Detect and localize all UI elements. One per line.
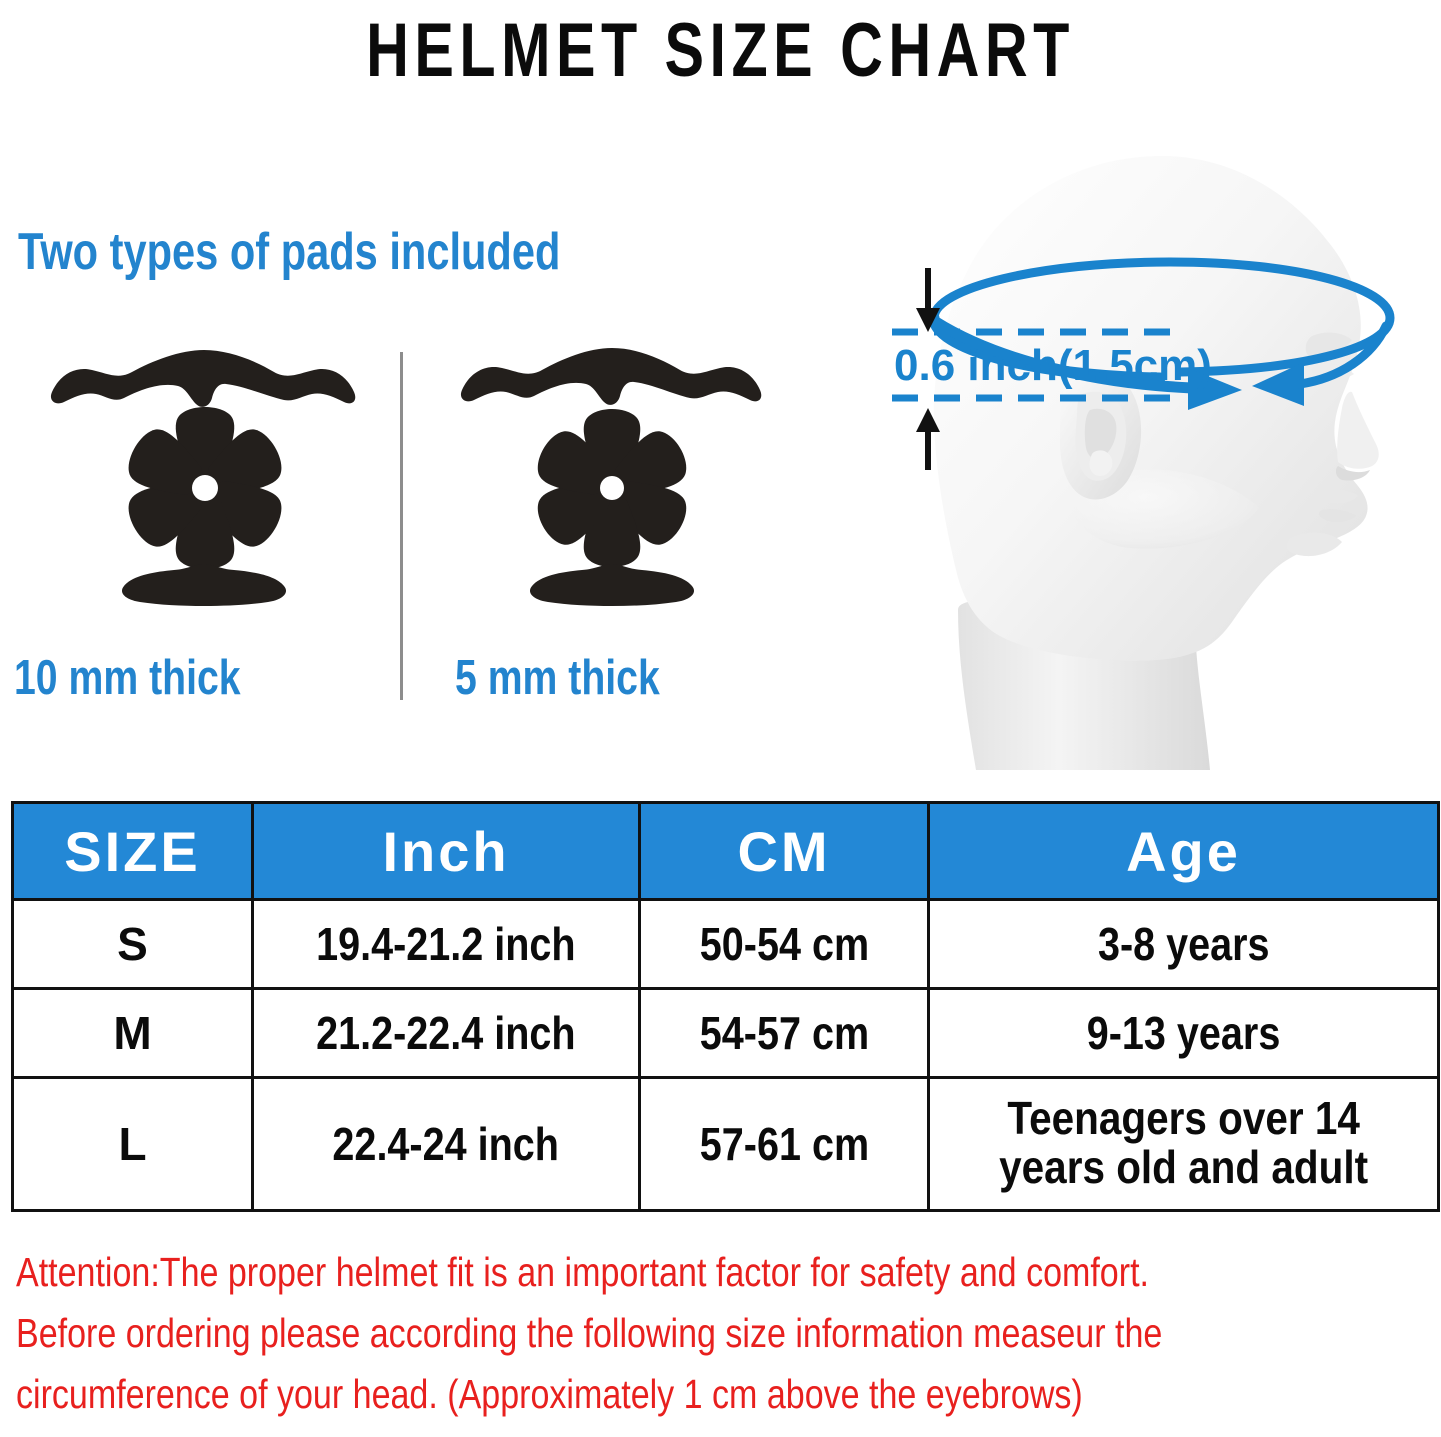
cell-cm-l: 57-61 cm (640, 1078, 929, 1211)
cell-age-l-line1: Teenagers over 14 (1007, 1092, 1360, 1144)
cell-cm-l-text: 57-61 cm (699, 1117, 868, 1171)
nose-shape (1337, 392, 1379, 469)
head-measure-label: 0.6 inch(1.5cm) (894, 341, 1212, 390)
column-header-size: SIZE (13, 803, 253, 900)
table-header-row: SIZE Inch CM Age (13, 803, 1439, 900)
helmet-pad-set-icon (40, 330, 370, 610)
attention-line-3: circumference of your head. (Approximate… (16, 1364, 1186, 1425)
head-shape (934, 156, 1368, 661)
mannequin-head-profile-icon: 0.6 inch(1.5cm) (880, 140, 1441, 770)
page-title: HELMET SIZE CHART (159, 0, 1283, 100)
cell-inch-l: 22.4-24 inch (253, 1078, 640, 1211)
pad-group-10mm (40, 330, 370, 610)
cell-size-m: M (13, 989, 253, 1078)
pads-section-heading: Two types of pads included (18, 222, 560, 282)
cell-age-l-line2: years old and adult (999, 1141, 1368, 1193)
table-body: S 19.4-21.2 inch 50-54 cm 3-8 years M 21… (13, 900, 1439, 1211)
pads-vertical-divider (400, 352, 403, 700)
cell-age-m: 9-13 years (929, 989, 1439, 1078)
cell-inch-s-text: 19.4-21.2 inch (316, 917, 575, 971)
helmet-pad-set-icon (440, 330, 770, 610)
table-row: M 21.2-22.4 inch 54-57 cm 9-13 years (13, 989, 1439, 1078)
cell-inch-l-text: 22.4-24 inch (333, 1117, 559, 1171)
cell-age-l: Teenagers over 14 years old and adult (929, 1078, 1439, 1211)
cell-age-m-text: 9-13 years (1087, 1006, 1281, 1060)
cell-cm-s: 50-54 cm (640, 900, 929, 989)
cell-cm-s-text: 50-54 cm (699, 917, 868, 971)
cell-inch-m-text: 21.2-22.4 inch (316, 1006, 575, 1060)
cell-age-s: 3-8 years (929, 900, 1439, 989)
cell-cm-m: 54-57 cm (640, 989, 929, 1078)
column-header-cm: CM (640, 803, 929, 900)
cell-age-l-text: Teenagers over 14 years old and adult (999, 1094, 1368, 1193)
cell-cm-m-text: 54-57 cm (699, 1006, 868, 1060)
cell-age-s-text: 3-8 years (1098, 917, 1270, 971)
cell-inch-m: 21.2-22.4 inch (253, 989, 640, 1078)
table-row: S 19.4-21.2 inch 50-54 cm 3-8 years (13, 900, 1439, 989)
cell-size-l: L (13, 1078, 253, 1211)
helmet-size-table: SIZE Inch CM Age S 19.4-21.2 inch 50-54 … (11, 801, 1440, 1212)
pad-group-5mm (440, 330, 770, 610)
table-header: SIZE Inch CM Age (13, 803, 1439, 900)
pad-thickness-label-10mm: 10 mm thick (14, 650, 241, 706)
attention-line-1: Attention:The proper helmet fit is an im… (16, 1242, 1186, 1303)
head-measurement-diagram: 0.6 inch(1.5cm) (880, 140, 1441, 770)
attention-note: Attention:The proper helmet fit is an im… (16, 1242, 1426, 1425)
table-row: L 22.4-24 inch 57-61 cm Teenagers over 1… (13, 1078, 1439, 1211)
pad-thickness-label-5mm: 5 mm thick (455, 650, 660, 706)
cell-inch-s: 19.4-21.2 inch (253, 900, 640, 989)
column-header-age: Age (929, 803, 1439, 900)
cell-size-s: S (13, 900, 253, 989)
attention-line-2: Before ordering please according the fol… (16, 1303, 1186, 1364)
column-header-inch: Inch (253, 803, 640, 900)
